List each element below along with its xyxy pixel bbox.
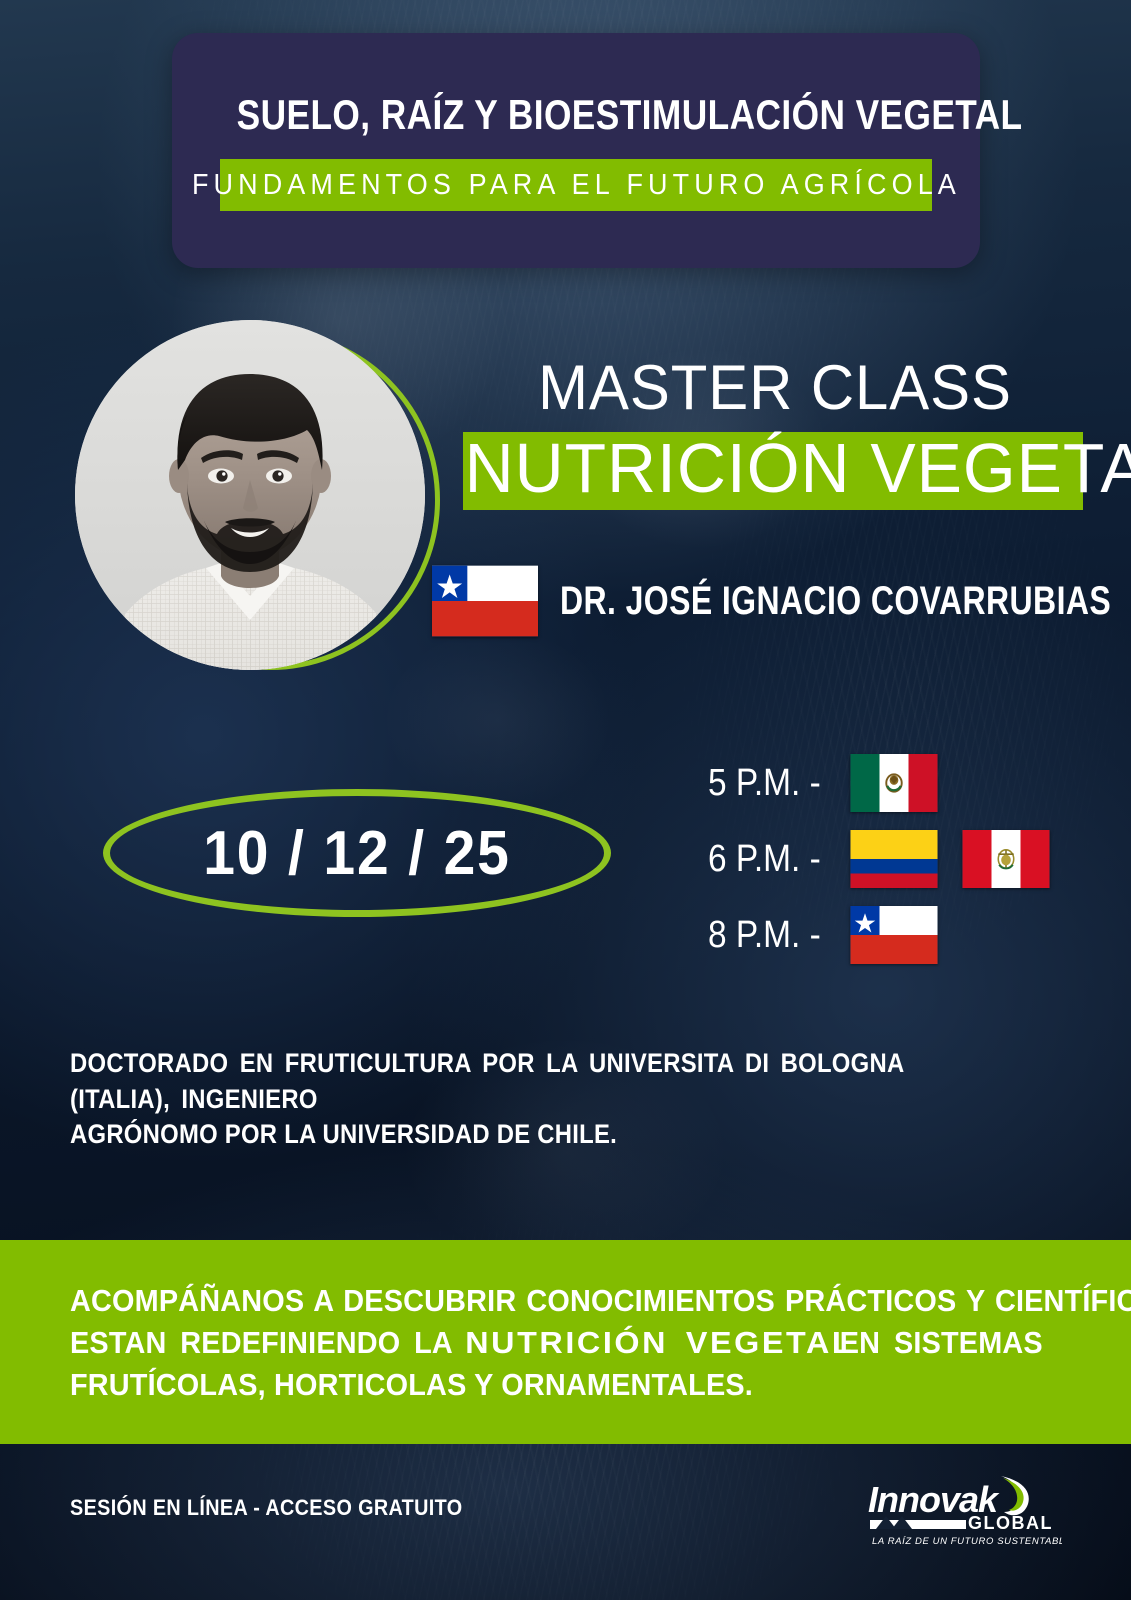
speaker-bio-line-2: AGRÓNOMO POR LA UNIVERSIDAD DE CHILE. xyxy=(70,1117,970,1153)
event-date: 10 / 12 / 25 xyxy=(123,789,590,917)
time-label: 6 P.M. - xyxy=(708,838,821,881)
svg-text:GLOBAL: GLOBAL xyxy=(968,1513,1053,1533)
time-row: 6 P.M. - xyxy=(708,821,1108,897)
time-flags xyxy=(850,906,938,964)
speaker-bio-line-1: DOCTORADO EN FRUTICULTURA POR LA UNIVERS… xyxy=(70,1046,970,1117)
time-row: 8 P.M. - xyxy=(708,897,1108,973)
chile-flag-icon xyxy=(432,565,538,637)
header-banner: SUELO, RAÍZ Y BIOESTIMULACIÓN VEGETAL FU… xyxy=(172,33,980,268)
speaker-name: DR. JOSÉ IGNACIO COVARRUBIAS xyxy=(560,579,1111,624)
footer-note: SESIÓN EN LÍNEA - ACCESO GRATUITO xyxy=(70,1495,463,1521)
speaker-row: DR. JOSÉ IGNACIO COVARRUBIAS xyxy=(432,565,1131,637)
poster-subtitle: FUNDAMENTOS PARA EL FUTURO AGRÍCOLA xyxy=(192,169,961,202)
description-line-1: ACOMPÁÑANOS A DESCUBRIR CONOCIMIENTOS PR… xyxy=(70,1280,1009,1322)
header-subtitle-band: FUNDAMENTOS PARA EL FUTURO AGRÍCOLA xyxy=(220,159,932,211)
description-panel: ACOMPÁÑANOS A DESCUBRIR CONOCIMIENTOS PR… xyxy=(0,1240,1131,1444)
peru-flag-icon xyxy=(962,830,1050,888)
innovak-global-logo: Innovak ® GLOBAL LA RAÍZ DE UN FUTURO SU… xyxy=(862,1468,1062,1550)
masterclass-topic: NUTRICIÓN VEGETAL xyxy=(465,428,1086,508)
time-row: 5 P.M. - xyxy=(708,745,1108,821)
colombia-flag-icon xyxy=(850,830,938,888)
chile-flag-icon xyxy=(850,906,938,964)
time-flags xyxy=(850,830,1050,888)
description-line-2-before: ESTAN REDEFINIENDO LA xyxy=(70,1325,452,1360)
description-line-3: FRUTÍCOLAS, HORTICOLAS Y ORNAMENTALES. xyxy=(70,1364,1009,1406)
time-label: 8 P.M. - xyxy=(708,914,821,957)
time-label: 5 P.M. - xyxy=(708,762,821,805)
speaker-bio: DOCTORADO EN FRUTICULTURA POR LA UNIVERS… xyxy=(70,1046,970,1153)
poster-main-title: SUELO, RAÍZ Y BIOESTIMULACIÓN VEGETAL xyxy=(237,91,916,139)
svg-text:LA RAÍZ DE UN FUTURO SUSTENTAB: LA RAÍZ DE UN FUTURO SUSTENTABLE xyxy=(872,1536,1062,1547)
mexico-flag-icon xyxy=(850,754,938,812)
poster-root: SUELO, RAÍZ Y BIOESTIMULACIÓN VEGETAL FU… xyxy=(0,0,1131,1600)
description-line-2: ESTAN REDEFINIENDO LA NUTRICIÓN VEGETAL … xyxy=(70,1322,1009,1364)
description-line-2-after: EN SISTEMAS xyxy=(840,1325,1043,1360)
timezone-list: 5 P.M. - 6 P.M. - xyxy=(708,745,1108,973)
description-text: ACOMPÁÑANOS A DESCUBRIR CONOCIMIENTOS PR… xyxy=(70,1280,1009,1406)
masterclass-label: MASTER CLASS xyxy=(471,352,1079,424)
time-flags xyxy=(850,754,938,812)
description-emphasis: NUTRICIÓN VEGETAL xyxy=(466,1322,870,1364)
speaker-portrait xyxy=(75,320,425,670)
